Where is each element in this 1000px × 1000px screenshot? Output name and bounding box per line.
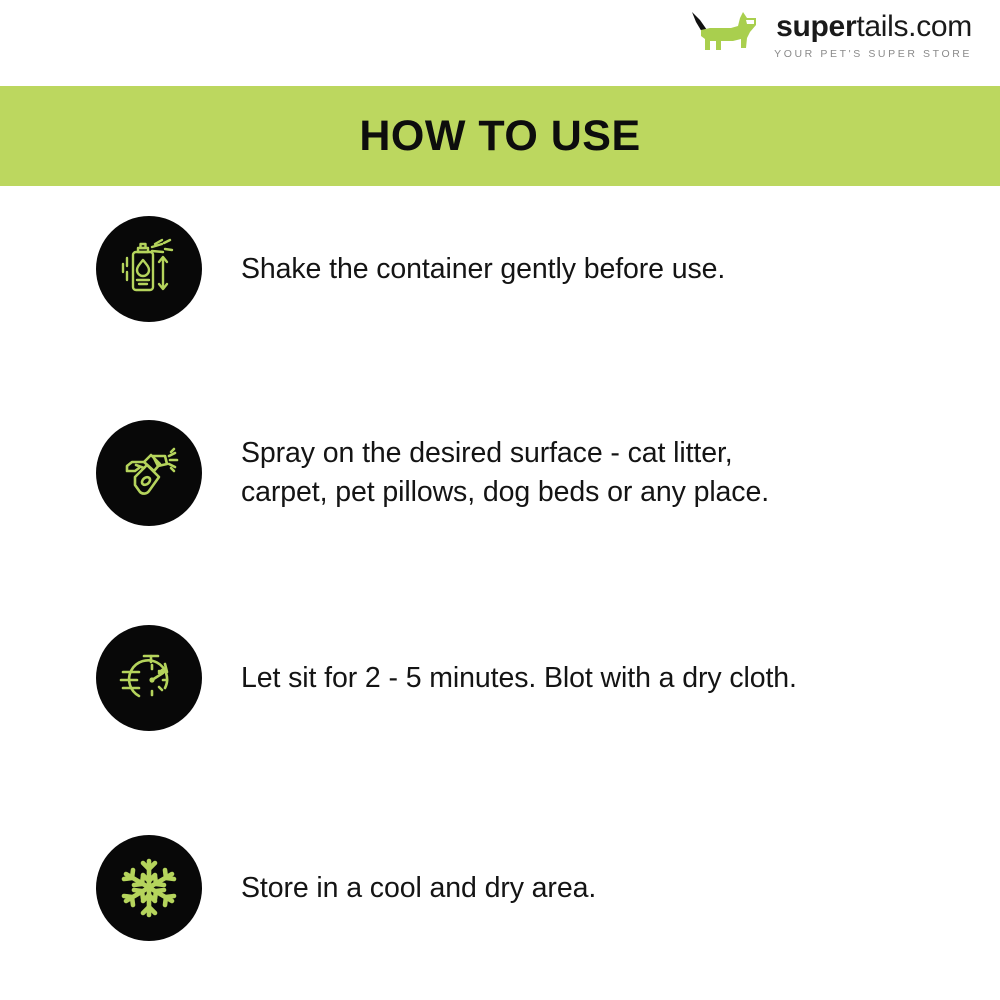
steps-list: Shake the container gently before use.: [0, 186, 1000, 1000]
page-header: supertails.com YOUR PET'S SUPER STORE: [0, 0, 1000, 86]
step-text-line: Store in a cool and dry area.: [241, 869, 961, 908]
step-text-line: Let sit for 2 - 5 minutes. Blot with a d…: [241, 659, 961, 698]
wordmark-super: super: [776, 10, 856, 43]
step-item: Store in a cool and dry area.: [0, 835, 1000, 941]
snowflake-icon: [114, 853, 184, 923]
step-icon-badge: [96, 625, 202, 731]
step-text: Let sit for 2 - 5 minutes. Blot with a d…: [241, 659, 961, 698]
step-text-line: carpet, pet pillows, dog beds or any pla…: [241, 473, 961, 512]
brand-logo[interactable]: supertails.com YOUR PET'S SUPER STORE: [690, 8, 972, 64]
spray-can-shake-icon: [114, 234, 184, 304]
brand-wordmark: supertails.com: [776, 12, 972, 42]
step-text-line: Shake the container gently before use.: [241, 250, 961, 289]
trigger-spray-bottle-icon: [113, 437, 185, 509]
step-item: Spray on the desired surface - cat litte…: [0, 420, 1000, 526]
dog-silhouette-icon: [690, 8, 764, 64]
page-title: HOW TO USE: [359, 112, 640, 161]
wordmark-tails: tails.com: [856, 10, 972, 43]
step-text: Spray on the desired surface - cat litte…: [241, 434, 961, 512]
step-item: Let sit for 2 - 5 minutes. Blot with a d…: [0, 625, 1000, 731]
step-text: Store in a cool and dry area.: [241, 869, 961, 908]
step-icon-badge: [96, 835, 202, 941]
step-item: Shake the container gently before use.: [0, 216, 1000, 322]
brand-wordmark-block: supertails.com YOUR PET'S SUPER STORE: [774, 12, 972, 60]
stopwatch-timer-icon: [113, 642, 185, 714]
step-icon-badge: [96, 216, 202, 322]
how-to-use-banner: HOW TO USE: [0, 86, 1000, 186]
step-text-line: Spray on the desired surface - cat litte…: [241, 434, 961, 473]
brand-tagline: YOUR PET'S SUPER STORE: [774, 49, 972, 60]
step-text: Shake the container gently before use.: [241, 250, 961, 289]
step-icon-badge: [96, 420, 202, 526]
